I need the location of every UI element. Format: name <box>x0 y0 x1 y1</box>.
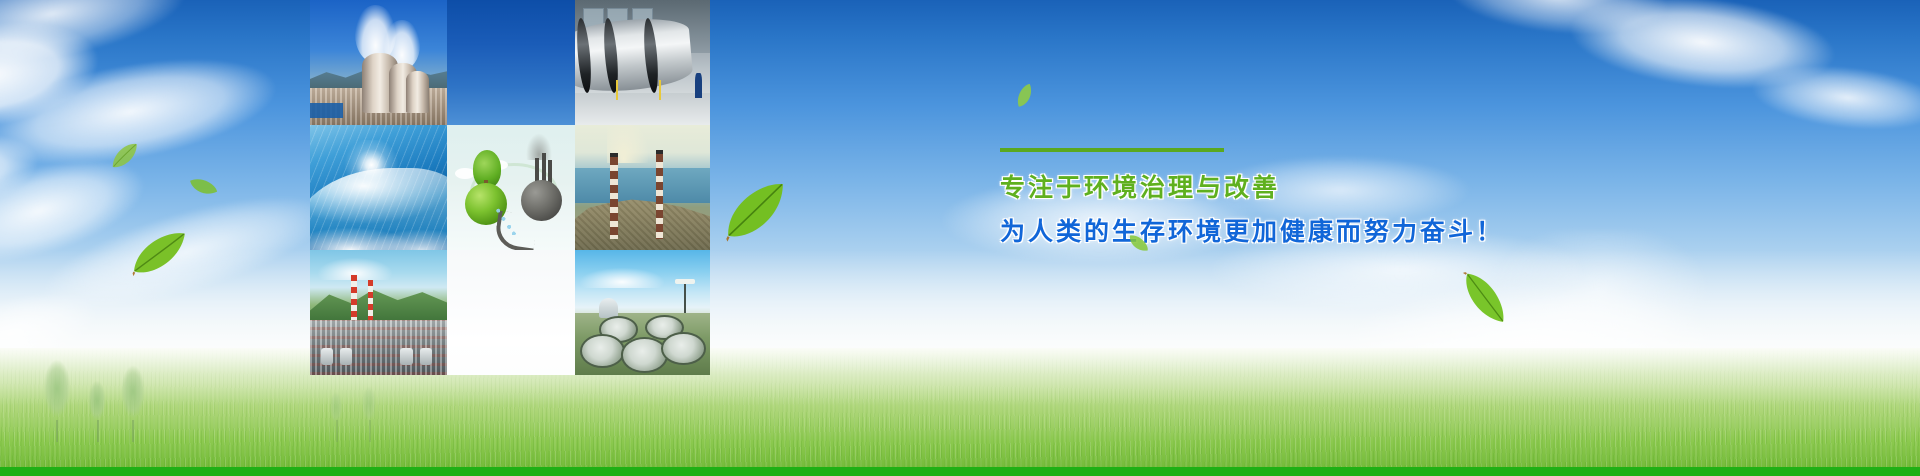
meadow-tree-5 <box>360 384 378 428</box>
cooling-towers-photo <box>310 0 447 125</box>
meadow-tree-1 <box>40 356 74 428</box>
chemical-plant-photo <box>310 250 447 375</box>
coastal-smokestacks-photo <box>575 125 710 250</box>
wastewater-treatment-photo <box>575 250 710 375</box>
meadow-tree-3 <box>118 362 148 428</box>
blue-sky-panel <box>447 0 575 125</box>
slogan-divider-rule <box>1000 148 1224 152</box>
rotary-kiln-photo <box>575 0 710 125</box>
bottom-green-bar <box>0 467 1920 476</box>
slogan-line-1: 专注于环境治理与改善 <box>1000 170 1504 208</box>
white-panel <box>447 250 575 375</box>
slogan-block: 专注于环境治理与改善 为人类的生存环境更加健康而努力奋斗！ <box>1000 148 1504 251</box>
photo-grid <box>310 0 710 375</box>
meadow-tree-4 <box>328 390 344 428</box>
ocean-wave-photo <box>310 125 447 250</box>
green-vs-polluted-globe-photo <box>447 125 575 250</box>
environment-hero-banner: 专注于环境治理与改善 为人类的生存环境更加健康而努力奋斗！ <box>0 0 1920 476</box>
meadow-tree-2 <box>86 378 108 428</box>
grass-texture <box>0 348 1920 468</box>
slogan-line-2: 为人类的生存环境更加健康而努力奋斗！ <box>1000 214 1504 252</box>
